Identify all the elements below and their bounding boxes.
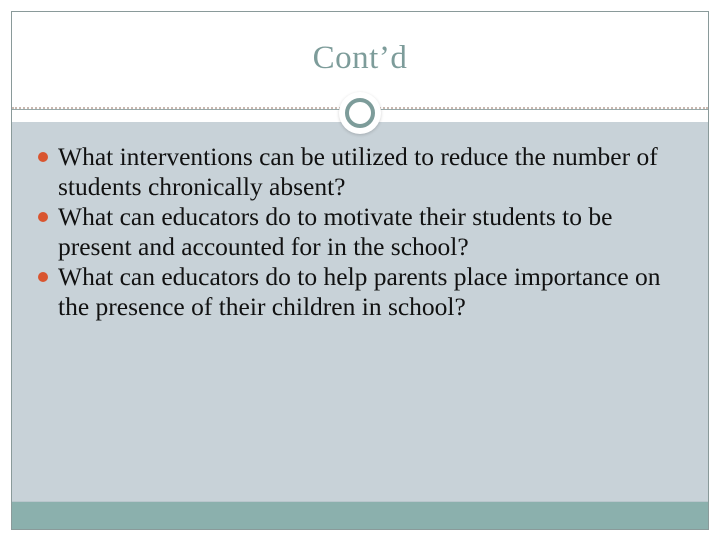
presentation-slide: Cont’d What interventions can be utilize… <box>11 11 709 530</box>
list-item-text: What can educators do to motivate their … <box>58 202 690 262</box>
circle-ring-icon <box>339 92 381 134</box>
slide-body-panel: What interventions can be utilized to re… <box>12 111 708 529</box>
list-item: What interventions can be utilized to re… <box>37 142 690 202</box>
page-title: Cont’d <box>12 38 708 78</box>
slide-body-background: What interventions can be utilized to re… <box>12 122 708 529</box>
bullet-dot-icon <box>38 212 48 222</box>
list-item-text: What can educators do to help parents pl… <box>58 262 690 322</box>
bottom-accent-bar <box>12 501 708 529</box>
list-item: What can educators do to motivate their … <box>37 202 690 262</box>
circle-ring-inner-icon <box>345 98 375 128</box>
bullet-list: What interventions can be utilized to re… <box>37 142 690 322</box>
bullet-dot-icon <box>38 152 48 162</box>
list-item-text: What interventions can be utilized to re… <box>58 142 690 202</box>
bullet-dot-icon <box>38 272 48 282</box>
list-item: What can educators do to help parents pl… <box>37 262 690 322</box>
